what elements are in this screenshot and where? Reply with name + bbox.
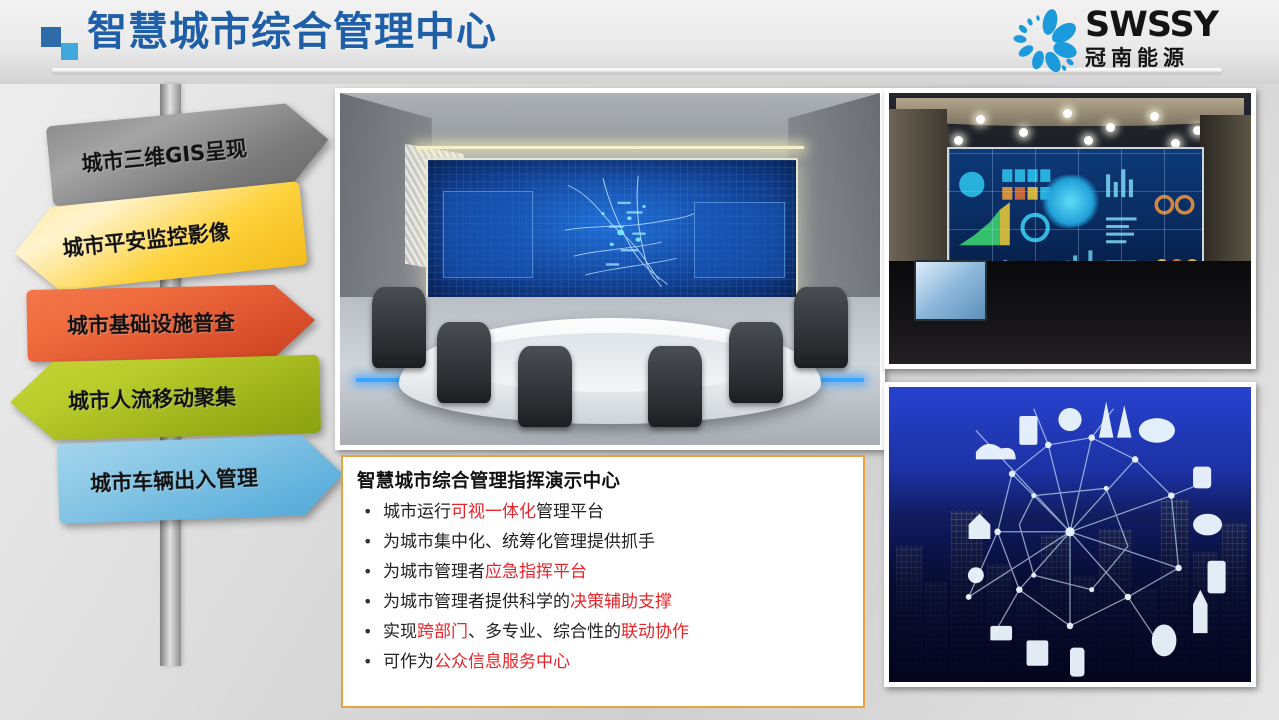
card-bullet-item: 为城市管理者应急指挥平台	[357, 557, 849, 587]
photo-inner	[889, 387, 1251, 682]
iot-network-graphic	[889, 387, 1251, 682]
chair	[518, 346, 572, 427]
signpost-graphic: 城市三维GIS呈现 城市平安监控影像 城市基础设施普查 城市人流移动聚集 城市车…	[0, 84, 340, 684]
bullet-highlight-text: 决策辅助支撑	[570, 592, 672, 612]
company-logo: SWSSY 冠南能源	[1007, 4, 1265, 78]
card-bullet-item: 为城市管理者提供科学的决策辅助支撑	[357, 587, 849, 617]
card-bullet-item: 城市运行可视一体化管理平台	[357, 497, 849, 527]
watch-icon	[1193, 514, 1222, 536]
server-icon	[1208, 561, 1226, 594]
chair	[648, 346, 702, 427]
card-bullet-item: 为城市集中化、统筹化管理提供抓手	[357, 527, 849, 557]
gis-map-graphic	[553, 171, 700, 289]
lamp-icon	[1193, 590, 1207, 633]
logo-text-block: SWSSY 冠南能源	[1085, 6, 1218, 71]
bulb-icon	[1152, 624, 1177, 656]
bullet-text: 为城市管理者	[383, 562, 485, 582]
sign-label: 城市基础设施普查	[67, 307, 236, 341]
photo-inner	[889, 93, 1251, 364]
photo-smart-city-network	[884, 382, 1256, 687]
logo-wordmark: SWSSY	[1085, 6, 1218, 44]
slide-root: 智慧城市综合管理中心	[0, 0, 1279, 720]
header-square-light-icon	[61, 43, 78, 60]
logo-chinese-name: 冠南能源	[1085, 45, 1218, 71]
chair	[794, 287, 848, 368]
sign-label: 城市人流移动聚集	[68, 381, 237, 416]
person-icon	[1058, 408, 1081, 431]
bullet-text: 管理平台	[536, 502, 604, 522]
screen-icon	[1027, 640, 1049, 665]
bullet-text: 可作为	[383, 652, 434, 672]
description-card: 智慧城市综合管理指挥演示中心 城市运行可视一体化管理平台为城市集中化、统筹化管理…	[341, 455, 865, 708]
led-video-wall	[947, 147, 1204, 270]
building-icon	[1019, 416, 1037, 445]
bullet-highlight-text: 跨部门	[417, 622, 468, 642]
wifi-icon	[968, 567, 984, 583]
tower-icon	[1099, 401, 1113, 437]
card-bullet-item: 实现跨部门、多专业、综合性的联动协作	[357, 617, 849, 647]
bullet-text: 城市运行	[383, 502, 451, 522]
card-title: 智慧城市综合管理指挥演示中心	[357, 467, 849, 493]
bullet-highlight-text: 可视一体化	[451, 502, 536, 522]
slide-header: 智慧城市综合管理中心	[0, 0, 1279, 84]
bullet-text: 实现	[383, 622, 417, 642]
header-square-dark-icon	[41, 27, 61, 47]
chair	[372, 287, 426, 368]
sign-city-infrastructure-survey[interactable]: 城市基础设施普查	[26, 284, 315, 362]
card-bullet-list: 城市运行可视一体化管理平台为城市集中化、统筹化管理提供抓手为城市管理者应急指挥平…	[357, 497, 849, 677]
dashboard-panel-left	[443, 191, 533, 277]
bullet-highlight-text: 应急指挥平台	[485, 562, 587, 582]
train-icon	[1193, 467, 1211, 489]
dashboard-panel-right	[694, 202, 784, 277]
bullet-text: 为城市集中化、统筹化管理提供抓手	[383, 532, 655, 552]
video-wall-screen	[426, 158, 797, 303]
desktop-monitor	[914, 260, 987, 321]
car-cloud-icon	[1139, 418, 1175, 443]
monitoring-room-illustration	[889, 93, 1251, 364]
home-icon	[969, 514, 991, 539]
sign-label: 城市车辆出入管理	[90, 462, 259, 498]
photo-inner	[340, 93, 880, 445]
card-bullet-item: 可作为公众信息服务中心	[357, 647, 849, 677]
water-droplet-circle-icon	[1007, 8, 1079, 76]
photo-monitoring-center	[884, 88, 1256, 369]
bullet-highlight-text: 联动协作	[621, 622, 689, 642]
bullet-text: 、多专业、综合性的	[468, 622, 621, 642]
smart-city-illustration	[889, 387, 1251, 682]
bullet-highlight-text: 公众信息服务中心	[434, 652, 570, 672]
chair	[729, 322, 783, 403]
page-title: 智慧城市综合管理中心	[87, 12, 497, 52]
cloud-icon	[976, 444, 1016, 460]
china-map-graphic	[1040, 175, 1101, 227]
phone-icon	[1070, 648, 1084, 677]
laptop-icon	[990, 626, 1012, 640]
bullet-text: 为城市管理者提供科学的	[383, 592, 570, 612]
photo-command-center-main	[335, 88, 885, 450]
light-cove	[416, 146, 805, 149]
control-room-illustration	[340, 93, 880, 445]
chair	[437, 322, 491, 403]
sign-city-vehicle-access[interactable]: 城市车辆出入管理	[57, 434, 345, 524]
sign-city-crowd-movement[interactable]: 城市人流移动聚集	[9, 355, 321, 442]
